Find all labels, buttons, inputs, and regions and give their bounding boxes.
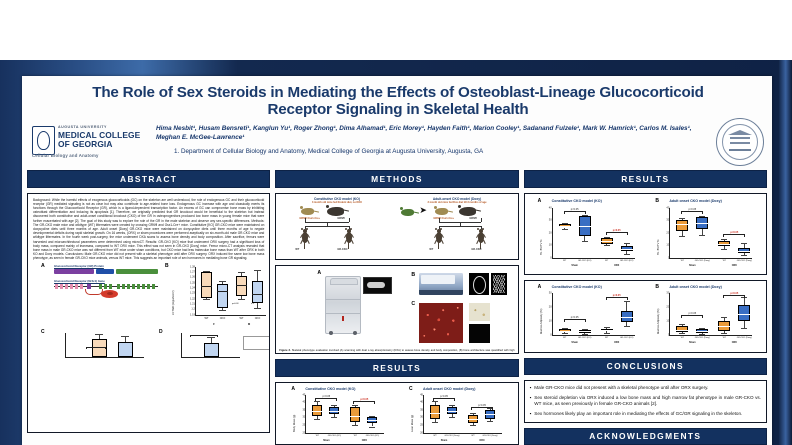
osteoblast-cell-icon <box>101 290 118 298</box>
chart-b-group: M <box>248 322 250 326</box>
section-header-abstract: ABSTRACT <box>27 170 270 188</box>
mcg-logo: AUGUSTA UNIVERSITY MEDICAL COLLEGE OF GE… <box>30 123 148 163</box>
conclusion-bullet: ▪ Sex hormones likely play an important … <box>530 411 761 417</box>
chart-b-plot-area: 1.19 1.2 1.21 1.22 1.23 1.24 1.25 1.26 1… <box>195 267 266 316</box>
chart-b-ytick: 1.24 <box>190 286 196 289</box>
chart-mid-c-plot-area: 20 25 30 35 40 45 <box>423 395 502 434</box>
chart-right-bottom-a-sig-1: p<0.05 <box>571 316 579 319</box>
pup-icon-cko <box>475 229 486 247</box>
chart-right-top-b-sig-2: p<0.05 <box>730 231 738 234</box>
chart-b-ytick: 1.25 <box>190 281 196 284</box>
gr-domain-transactivation <box>54 269 94 275</box>
conclusions-box: ▪ Male GR-CKO mice did not present with … <box>524 380 767 422</box>
mouse-icon-dark <box>459 207 476 216</box>
conclusion-bullet: ▪ Sex steroid depletion via ORX induced … <box>530 395 761 407</box>
breeding-offspring-2: GR-CKO <box>337 248 347 251</box>
breeding-right: Adult-onset CKO model (Doxy) 3 month old… <box>399 197 514 261</box>
chart-right-top-b-ylabel: Tb. BV/TV % <box>657 239 660 255</box>
desktop-top-strip <box>0 0 792 60</box>
gr-domain-lbd <box>116 269 158 275</box>
panel-letter-b: B <box>165 263 169 269</box>
microct-scanner-photo <box>419 273 463 295</box>
chart-mid-a-ylabel: Body Mass (g) <box>293 414 296 431</box>
breeding-offspring-2: GR-CKO <box>471 248 481 251</box>
breeding-left: Constitutive CKO model (KO) 3 month old … <box>279 197 394 261</box>
ct-trabecular-image <box>491 273 507 295</box>
chart-mid-a-sig-2: p<0.05 <box>360 398 368 401</box>
shield-icon <box>32 126 55 155</box>
chart-b-ytick: 1.26 <box>190 276 196 279</box>
figure1-composite: A Glucocorticoid Receptor (GR) Protein G… <box>33 263 264 358</box>
breeding-offspring-1: WT <box>429 248 433 251</box>
gr-domain-dna <box>96 269 114 275</box>
panel-letter-b: B <box>411 272 415 278</box>
arrow-right-icon: ➤ <box>419 206 427 215</box>
poster-sheet: The Role of Sex Steroids in Mediating th… <box>22 76 772 445</box>
bullet-icon: ▪ <box>530 395 532 407</box>
mouse-icon-tan <box>435 208 448 215</box>
gr-gene-title: Glucocorticoid Receptor (Nr3c1) Gene <box>54 279 158 283</box>
chart-right-bottom-b-plot-area: 0 10 20 30 <box>669 293 752 336</box>
affiliation: 1. Department of Cellular Biology and An… <box>174 148 694 155</box>
chart-right-top-a-sig-2: p<0.05 <box>613 229 621 232</box>
university-seal-icon <box>716 118 764 166</box>
mouse-icon-green <box>401 209 414 216</box>
chart-right-bottom-a-sig-2: p<0.05 <box>613 294 621 297</box>
seal-building-glyph <box>729 134 751 151</box>
mouse-icon-tan <box>301 208 314 215</box>
figure3-caption-text: Skeletal phenotype evaluation involved (… <box>279 349 514 354</box>
gr-protein-title: Glucocorticoid Receptor (GR) Protein <box>54 264 158 268</box>
ct-cross-section-image <box>469 273 489 295</box>
histology-image-3 <box>469 324 490 343</box>
figure6-charts: A Constitutive CKO model (KO) Marrow Adi… <box>528 284 763 352</box>
chart-mid-a-sig-1: p<0.05 <box>322 395 330 398</box>
chart-right-top-a: A Constitutive CKO model (KO) Tb. BV/TV … <box>528 197 646 275</box>
breeding-parent-label-1: GRfl/fl Osx1-Cre+ <box>299 217 320 220</box>
panel-letter-a: A <box>538 284 542 290</box>
panel-letter-c: C <box>411 301 415 307</box>
results-figure5-box: A Constitutive CKO model (KO) Tb. BV/TV … <box>524 193 767 275</box>
chart-d-legend <box>243 336 270 350</box>
panel-letter-a: A <box>41 263 45 269</box>
chart-right-bottom-b-sig-1: p<0.05 <box>688 312 696 315</box>
chart-b-ytick: 1.27 <box>190 270 196 273</box>
desktop-right-edge <box>778 60 792 445</box>
pup-icon-wt <box>433 229 444 247</box>
column-left: ABSTRACT Background: While the harmful e… <box>27 170 270 445</box>
section-header-results-right: RESULTS <box>524 170 767 188</box>
chart-b-box-wt-f <box>201 272 212 298</box>
column-right: RESULTS A Constitutive CKO model (KO) Tb… <box>524 170 767 445</box>
chart-right-top-b-plot-area: 0 10 20 30 40 <box>669 208 752 259</box>
chart-right-top-a-title: Constitutive CKO model (KO) <box>552 199 602 203</box>
poster-columns: ABSTRACT Background: While the harmful e… <box>22 170 772 445</box>
page-title: The Role of Sex Steroids in Mediating th… <box>62 84 734 118</box>
results-middle-box: A Constitutive CKO model (KO) Body Mass … <box>275 382 518 445</box>
equipment-figure: A B C <box>279 269 514 347</box>
chart-b-box-wt-m <box>236 276 247 296</box>
chart-right-bottom-a-title: Constitutive CKO model (KO) <box>552 285 602 289</box>
chart-right-bottom-a-plot-area: 0 10 20 30 <box>552 293 635 336</box>
chart-b-ylabel: Ct.TMD (mgHA/cm³) <box>172 290 175 314</box>
panel-letter-a: A <box>317 270 321 276</box>
panel-letter-c: C <box>409 386 413 392</box>
mcg-logo-line1: AUGUSTA UNIVERSITY <box>58 125 107 129</box>
panel-letter-b: B <box>655 284 659 290</box>
chart-right-bottom-b-ylabel: Marrow Adiposity (%) <box>657 308 660 333</box>
section-header-acknowledgments: ACKNOWLEDGMENTS <box>524 428 767 445</box>
chart-b-box-cko-m <box>252 281 263 303</box>
histology-image <box>419 303 463 343</box>
chart-right-top-a-ylabel: Tb. BV/TV % <box>540 239 543 255</box>
chart-b-annot-1: p=0.03 <box>232 303 238 305</box>
section-header-results-middle: RESULTS <box>275 359 518 377</box>
chart-mid-a: A Constitutive CKO model (KO) Body Mass … <box>279 386 397 445</box>
chart-right-top-b-title: Adult onset CKO model (Doxy) <box>669 199 722 203</box>
chart-mid-c-title: Adult onset CKO model (Doxy) <box>423 387 476 391</box>
figure5-charts: A Constitutive CKO model (KO) Tb. BV/TV … <box>528 197 763 275</box>
chart-mid-a-title: Constitutive CKO model (KO) <box>305 387 355 391</box>
breeding-parent-label-2: GRfl/fl <box>469 217 477 220</box>
section-header-methods: METHODS <box>275 170 518 188</box>
methods-figure3-box: A B C <box>275 265 518 354</box>
chart-c-plot-area <box>65 333 144 358</box>
panel-letter-a: A <box>538 198 542 204</box>
chart-mid-c: C Adult onset CKO model (Doxy) Lean Mass… <box>397 386 515 445</box>
breeding-parent-label-2: GRfl/fl <box>337 217 345 220</box>
chart-left-panel-c: C <box>41 329 151 359</box>
mcg-logo-line3: OF GEORGIA <box>58 139 113 149</box>
chart-left-panel-d: D <box>159 329 270 359</box>
bullet-icon: ▪ <box>530 411 532 417</box>
breeding-left-sub: 3 month old mice fed Rodent diet, no DOX <box>279 201 394 204</box>
chart-mid-a-plot-area: 20 25 30 35 40 45 <box>305 395 384 434</box>
chart-right-bottom-a: A Constitutive CKO model (KO) Marrow Adi… <box>528 284 646 350</box>
chart-b-ytick: 1.19 <box>190 313 196 316</box>
poster-header: The Role of Sex Steroids in Mediating th… <box>22 76 772 170</box>
section-header-conclusions: CONCLUSIONS <box>524 358 767 376</box>
chart-mid-c-sig-1: p<0.05 <box>440 395 448 398</box>
chart-b-xlabel: WT <box>204 317 208 320</box>
conclusion-bullet: ▪ Male GR-CKO mice did not present with … <box>530 385 761 391</box>
chart-b-box-cko-f <box>217 284 228 308</box>
pup-icon-cko <box>343 229 354 247</box>
mid-results-figure: A Constitutive CKO model (KO) Body Mass … <box>279 386 514 445</box>
chart-left-panel-b: B Ct.TMD (mgHA/cm³) 1.19 1.2 1.21 1.22 1… <box>165 263 270 329</box>
figure3-caption: Figure 3. Skeletal phenotype evaluation … <box>279 349 514 354</box>
chart-b-ytick: 1.23 <box>190 292 196 295</box>
chart-right-top-a-plot-area: 0 10 20 30 40 <box>552 208 635 259</box>
results-figure6-box: A Constitutive CKO model (KO) Marrow Adi… <box>524 280 767 353</box>
panel-letter-b: B <box>655 198 659 204</box>
conclusion-text: Sex hormones likely play an important ro… <box>534 411 742 417</box>
chart-b-xlabel: WT <box>239 317 243 320</box>
chart-right-top-b-sig-1: p<0.05 <box>688 208 696 211</box>
mouse-icon-dark <box>327 207 344 216</box>
chart-b-xlabel: CKO <box>255 317 261 320</box>
chart-d-plot-area <box>181 333 240 358</box>
screenshot-root: The Role of Sex Steroids in Mediating th… <box>0 0 792 445</box>
author-list: Hima Nesbit¹, Husam Bensreti¹, Kanglun Y… <box>156 124 696 142</box>
methods-figure2-box: Constitutive CKO model (KO) 3 month old … <box>275 193 518 261</box>
bullet-icon: ▪ <box>530 385 532 391</box>
breeding-schematic: Constitutive CKO model (KO) 3 month old … <box>279 197 514 261</box>
mcg-logo-line4: Cellular Biology and Anatomy <box>32 153 99 158</box>
chart-right-bottom-b: B Adult onset CKO model (Doxy) Marrow Ad… <box>645 284 763 350</box>
dxa-scanner-photo <box>325 276 361 334</box>
chart-mid-c-sig-2: p<0.05 <box>478 404 486 407</box>
gr-gene-exon-map <box>54 284 158 298</box>
chart-mid-c-ylabel: Lean Mass (g) <box>411 414 414 431</box>
conclusion-text: Sex steroid depletion via ORX induced a … <box>534 395 761 407</box>
chart-right-bottom-a-ylabel: Marrow Adiposity (%) <box>540 308 543 333</box>
breeding-parent-label-1: GRfl/fl Osx1-Cre+ <box>433 217 454 220</box>
breeding-offspring-1: WT <box>295 248 299 251</box>
xray-image <box>363 277 392 294</box>
panel-letter-c: C <box>41 329 45 335</box>
chart-right-top-a-sig-1: p<0.05 <box>571 208 579 211</box>
abstract-box: Background: While the harmful effects of… <box>27 193 270 433</box>
abstract-text: Background: While the harmful effects of… <box>33 198 264 261</box>
column-middle: METHODS Constitutive CKO model (KO) 3 mo… <box>275 170 518 445</box>
histology-image-2 <box>469 303 490 321</box>
chart-b-group: F <box>213 322 215 326</box>
chart-right-bottom-b-title: Adult onset CKO model (Doxy) <box>669 285 722 289</box>
pup-icon-wt <box>299 229 310 247</box>
chart-b-annot-2: n.s. <box>251 303 254 305</box>
chart-right-bottom-b-sig-2: p<0.05 <box>730 292 738 295</box>
chart-right-top-b: B Adult onset CKO model (Doxy) Tb. BV/TV… <box>645 197 763 275</box>
conclusion-text: Male GR-CKO mice did not present with a … <box>534 385 708 391</box>
breeding-right-sub: 3 month old mice fed Dox diet till 3 mon… <box>399 201 514 204</box>
chart-b-ytick: 1.22 <box>190 297 196 300</box>
chart-b-ytick: 1.2 <box>191 308 196 311</box>
panel-letter-d: D <box>159 329 163 335</box>
chart-b-ytick: 1.21 <box>190 302 196 305</box>
panel-letter-a: A <box>291 386 295 392</box>
chart-b-xlabel: CKO <box>220 317 226 320</box>
chart-b-ytick: 1.28 <box>190 265 196 268</box>
